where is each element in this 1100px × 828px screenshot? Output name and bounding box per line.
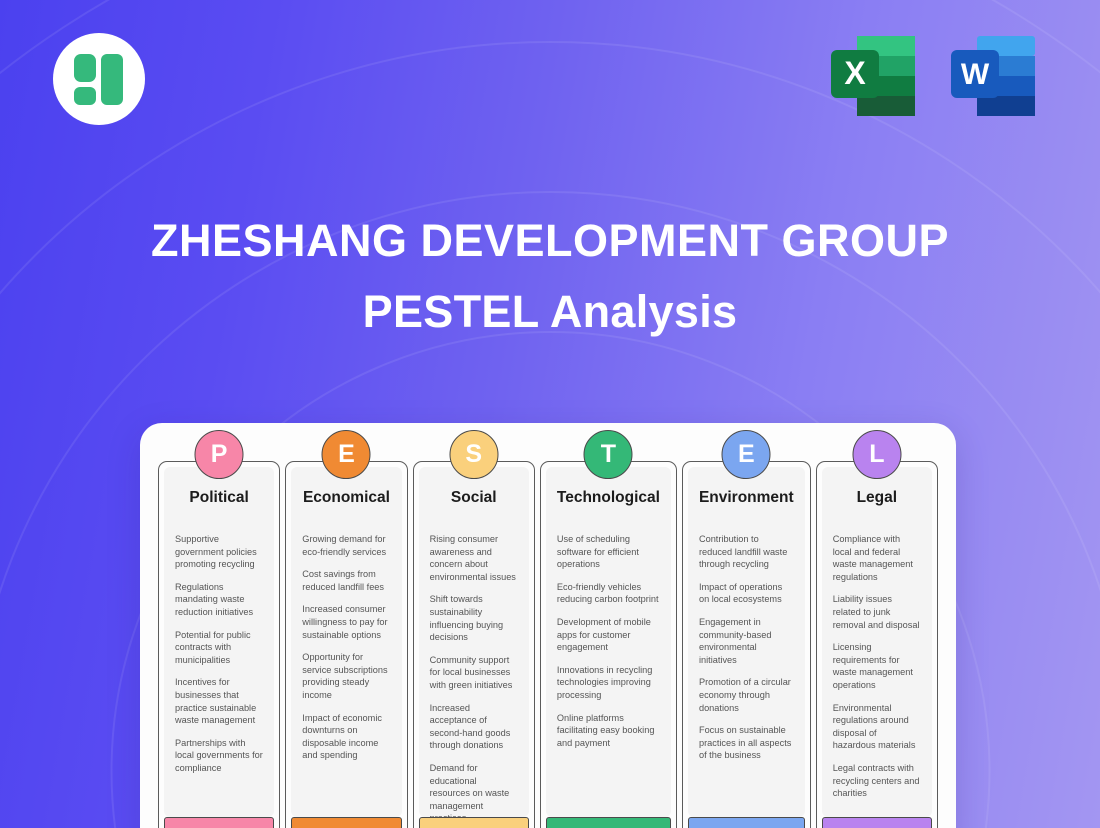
pestel-item: Impact of economic downturns on disposab… <box>302 712 390 762</box>
pestel-item: Rising consumer awareness and concern ab… <box>430 533 518 583</box>
title-line-2: PESTEL Analysis <box>0 285 1100 340</box>
pestel-column-body: TechnologicalUse of scheduling software … <box>546 467 671 817</box>
pestel-letter-badge: E <box>722 430 771 479</box>
pestel-color-bar <box>419 817 529 828</box>
pestel-column-body: EnvironmentContribution to reduced landf… <box>688 467 805 817</box>
pestel-letter-badge: T <box>584 430 633 479</box>
pestel-item: Promotion of a circular economy through … <box>699 676 794 714</box>
pestel-item-list: Use of scheduling software for efficient… <box>557 533 660 749</box>
pestel-column: SSocialRising consumer awareness and con… <box>413 461 535 828</box>
page-title: ZHESHANG DEVELOPMENT GROUP PESTEL Analys… <box>0 214 1100 340</box>
pestel-item: Demand for educational resources on wast… <box>430 762 518 817</box>
pestel-column-title: Technological <box>557 489 660 507</box>
pestel-item: Use of scheduling software for efficient… <box>557 533 660 571</box>
pestel-item: Engagement in community-based environmen… <box>699 616 794 666</box>
pestel-item-list: Growing demand for eco-friendly services… <box>302 533 390 762</box>
pestel-item-list: Contribution to reduced landfill waste t… <box>699 533 794 762</box>
pestel-color-bar <box>688 817 805 828</box>
pestel-item-list: Compliance with local and federal waste … <box>833 533 921 800</box>
svg-text:W: W <box>961 58 990 91</box>
pestel-item: Environmental regulations around disposa… <box>833 702 921 752</box>
grid-logo-icon <box>74 54 124 104</box>
pestel-item: Impact of operations on local ecosystems <box>699 581 794 606</box>
pestel-color-bar <box>291 817 401 828</box>
pestel-item: Incentives for businesses that practice … <box>175 676 263 726</box>
pestel-item: Licensing requirements for waste managem… <box>833 641 921 691</box>
pestel-column: TTechnologicalUse of scheduling software… <box>540 461 677 828</box>
pestel-color-bar <box>164 817 274 828</box>
pestel-column: EEnvironmentContribution to reduced land… <box>682 461 811 828</box>
pestel-item: Innovations in recycling technologies im… <box>557 664 660 702</box>
slide-canvas: X W ZHESHANG DEVELOPMENT GROUP PESTEL An… <box>0 0 1100 828</box>
pestel-item: Growing demand for eco-friendly services <box>302 533 390 558</box>
pestel-column-title: Social <box>430 489 518 507</box>
pestel-column-title: Economical <box>302 489 390 507</box>
excel-icon[interactable]: X <box>825 28 921 124</box>
word-icon[interactable]: W <box>945 28 1041 124</box>
pestel-item: Potential for public contracts with muni… <box>175 629 263 667</box>
pestel-item-list: Rising consumer awareness and concern ab… <box>430 533 518 817</box>
pestel-item: Liability issues related to junk removal… <box>833 593 921 631</box>
pestel-item: Increased acceptance of second-hand good… <box>430 702 518 752</box>
title-line-1: ZHESHANG DEVELOPMENT GROUP <box>0 214 1100 269</box>
pestel-column-body: LegalCompliance with local and federal w… <box>822 467 932 817</box>
pestel-column-title: Legal <box>833 489 921 507</box>
pestel-item: Regulations mandating waste reduction in… <box>175 581 263 619</box>
pestel-item: Compliance with local and federal waste … <box>833 533 921 583</box>
pestel-column-body: PoliticalSupportive government policies … <box>164 467 274 817</box>
pestel-item: Legal contracts with recycling centers a… <box>833 762 921 800</box>
pestel-item-list: Supportive government policies promoting… <box>175 533 263 775</box>
pestel-item: Development of mobile apps for customer … <box>557 616 660 654</box>
pestel-letter-badge: E <box>322 430 371 479</box>
pestel-item: Eco-friendly vehicles reducing carbon fo… <box>557 581 660 606</box>
pestel-column-body: SocialRising consumer awareness and conc… <box>419 467 529 817</box>
pestel-card: PPoliticalSupportive government policies… <box>140 423 956 828</box>
pestel-column: LLegalCompliance with local and federal … <box>816 461 938 828</box>
pestel-letter-badge: S <box>449 430 498 479</box>
brand-logo <box>53 33 145 125</box>
pestel-item: Opportunity for service subscriptions pr… <box>302 651 390 701</box>
pestel-item: Partnerships with local governments for … <box>175 737 263 775</box>
pestel-columns: PPoliticalSupportive government policies… <box>158 461 938 828</box>
pestel-item: Supportive government policies promoting… <box>175 533 263 571</box>
pestel-letter-badge: L <box>852 430 901 479</box>
pestel-column: EEconomicalGrowing demand for eco-friend… <box>285 461 407 828</box>
pestel-letter-badge: P <box>195 430 244 479</box>
pestel-item: Cost savings from reduced landfill fees <box>302 568 390 593</box>
pestel-item: Focus on sustainable practices in all as… <box>699 724 794 762</box>
pestel-item: Shift towards sustainability influencing… <box>430 593 518 643</box>
pestel-item: Online platforms facilitating easy booki… <box>557 712 660 750</box>
pestel-column-title: Environment <box>699 489 794 507</box>
svg-text:X: X <box>844 55 866 91</box>
pestel-color-bar <box>546 817 671 828</box>
pestel-column-title: Political <box>175 489 263 507</box>
pestel-color-bar <box>822 817 932 828</box>
pestel-column-body: EconomicalGrowing demand for eco-friendl… <box>291 467 401 817</box>
pestel-item: Increased consumer willingness to pay fo… <box>302 603 390 641</box>
pestel-item: Community support for local businesses w… <box>430 654 518 692</box>
pestel-item: Contribution to reduced landfill waste t… <box>699 533 794 571</box>
pestel-column: PPoliticalSupportive government policies… <box>158 461 280 828</box>
